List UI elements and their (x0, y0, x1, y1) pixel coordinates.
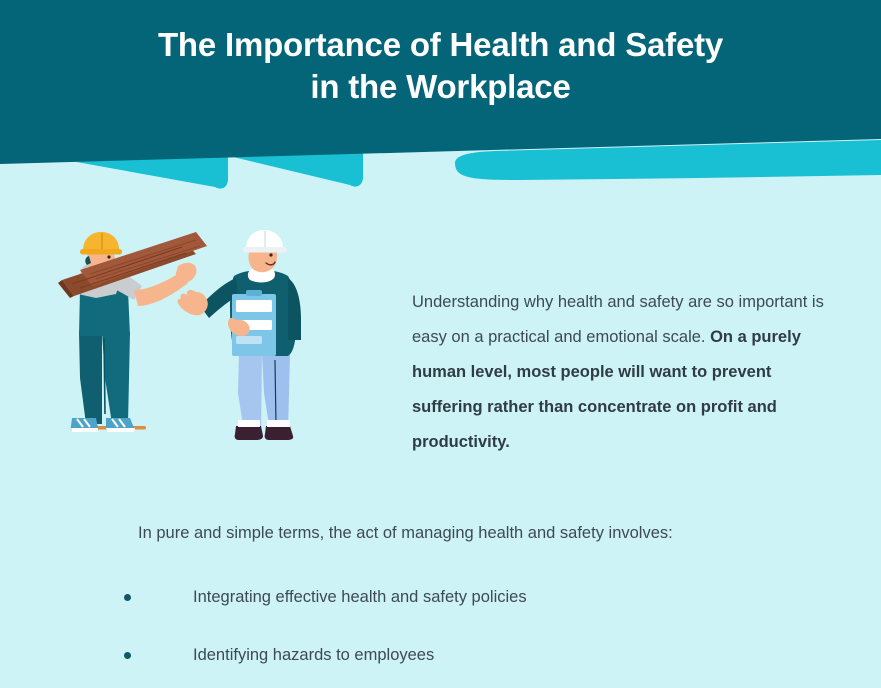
worker-eye (107, 255, 110, 258)
page-title: The Importance of Health and Safety in t… (0, 24, 881, 108)
workers-illustration (50, 228, 370, 458)
article-page: The Importance of Health and Safety in t… (0, 0, 881, 688)
worker-hand (176, 263, 197, 283)
worker-shoe-sole-back (71, 428, 98, 432)
white-hardhat-brim (243, 247, 287, 253)
list-intro-line: In pure and simple terms, the act of man… (138, 521, 838, 545)
yellow-hardhat (83, 232, 119, 251)
clipboard-clip (246, 290, 262, 296)
illustration-group (50, 228, 370, 458)
supervisor-sock-front (267, 420, 290, 427)
intro-paragraph: Understanding why health and safety are … (412, 285, 840, 460)
supervisor-sleeve-right (288, 278, 301, 340)
page-header-banner: The Importance of Health and Safety in t… (0, 0, 881, 200)
site-supervisor-waving-figure (178, 230, 301, 440)
supervisor-eye (269, 253, 272, 256)
worker-front-leg (102, 332, 130, 424)
worker-overalls-bib (79, 290, 130, 336)
list-item: Integrating effective health and safety … (118, 586, 858, 644)
list-item-label: Identifying hazards to employees (193, 644, 434, 666)
supervisor-waving-hand (178, 290, 208, 316)
safety-activities-list: Integrating effective health and safety … (118, 586, 858, 688)
worker-back-leg (79, 332, 102, 424)
supervisor-sock-back (238, 420, 260, 427)
bullet-dot-icon (124, 652, 131, 659)
hardhat-brim (80, 249, 122, 255)
worker-shoe-sole-front (106, 428, 135, 432)
bullet-dot-icon (124, 594, 131, 601)
list-item: Identifying hazards to employees (118, 644, 858, 688)
clipboard-label-bottom (236, 336, 262, 344)
supervisor-shoe-back (235, 426, 263, 440)
list-item-label: Integrating effective health and safety … (193, 586, 527, 608)
clipboard-label-top (236, 300, 272, 312)
supervisor-shoe-front (265, 426, 294, 440)
construction-worker-carrying-planks-figure (58, 232, 207, 432)
worker-leg-crease (104, 338, 105, 414)
